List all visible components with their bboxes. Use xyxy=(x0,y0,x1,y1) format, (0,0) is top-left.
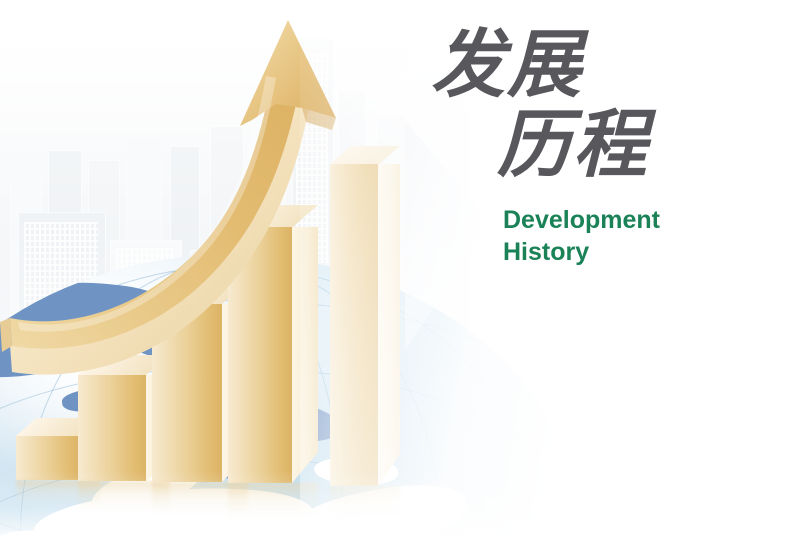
development-history-banner: 发展 历程 Development History xyxy=(0,0,800,540)
title-english-line-2: History xyxy=(503,236,745,268)
title-english: Development History xyxy=(503,204,745,268)
title-chinese-line-1: 发展 xyxy=(431,28,745,102)
arrow-tail xyxy=(0,318,12,352)
title-english-line-1: Development xyxy=(503,204,745,236)
bottom-white-fade-overlay xyxy=(0,470,800,540)
title-block: 发展 历程 Development History xyxy=(425,28,745,268)
title-chinese-line-2: 历程 xyxy=(497,108,745,182)
